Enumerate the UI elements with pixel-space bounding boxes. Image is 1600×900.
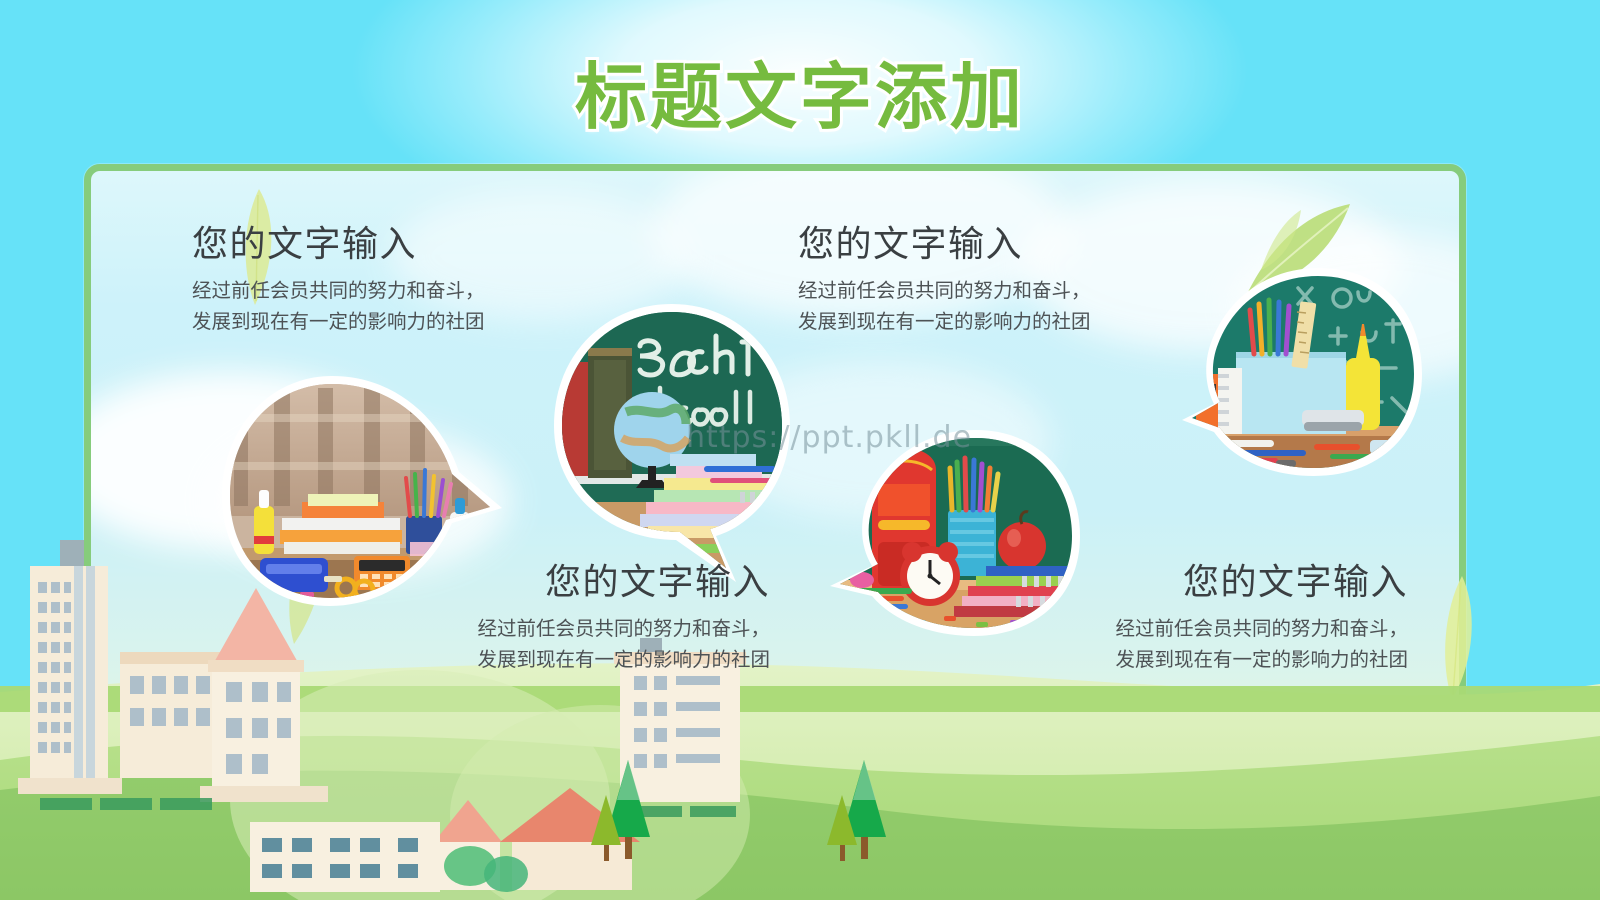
block-body-line: 经过前任会员共同的努力和奋斗，	[192, 276, 485, 307]
block-body-line: 发展到现在有一定的影响力的社团	[798, 307, 1091, 338]
block-body: 经过前任会员共同的努力和奋斗， 发展到现在有一定的影响力的社团	[192, 276, 485, 338]
block-heading: 您的文字输入	[192, 224, 485, 264]
block-body-line: 经过前任会员共同的努力和奋斗，	[430, 614, 770, 645]
text-block-4: 您的文字输入 经过前任会员共同的努力和奋斗， 发展到现在有一定的影响力的社团	[1068, 562, 1408, 676]
bubble-3[interactable]	[826, 424, 1088, 642]
block-body: 经过前任会员共同的努力和奋斗， 发展到现在有一定的影响力的社团	[430, 614, 770, 676]
block-body: 经过前任会员共同的努力和奋斗， 发展到现在有一定的影响力的社团	[1068, 614, 1408, 676]
page-title: 标题文字添加	[575, 38, 1025, 143]
slide-canvas: 标题文字添加	[0, 0, 1600, 900]
block-body-line: 经过前任会员共同的努力和奋斗，	[1068, 614, 1408, 645]
block-body: 经过前任会员共同的努力和奋斗， 发展到现在有一定的影响力的社团	[798, 276, 1091, 338]
text-block-1: 您的文字输入 经过前任会员共同的努力和奋斗， 发展到现在有一定的影响力的社团	[192, 224, 485, 338]
block-body-line: 发展到现在有一定的影响力的社团	[192, 307, 485, 338]
bubble-2[interactable]	[544, 296, 800, 596]
block-heading: 您的文字输入	[430, 562, 770, 602]
title-area: 标题文字添加	[0, 38, 1600, 143]
block-body-line: 经过前任会员共同的努力和奋斗，	[798, 276, 1091, 307]
bubble-4[interactable]	[1180, 262, 1426, 480]
tree-row	[0, 700, 1600, 900]
block-body-line: 发展到现在有一定的影响力的社团	[430, 645, 770, 676]
text-block-2: 您的文字输入 经过前任会员共同的努力和奋斗， 发展到现在有一定的影响力的社团	[798, 224, 1091, 338]
text-block-3: 您的文字输入 经过前任会员共同的努力和奋斗， 发展到现在有一定的影响力的社团	[430, 562, 770, 676]
block-body-line: 发展到现在有一定的影响力的社团	[1068, 645, 1408, 676]
block-heading: 您的文字输入	[798, 224, 1091, 264]
block-heading: 您的文字输入	[1068, 562, 1408, 602]
